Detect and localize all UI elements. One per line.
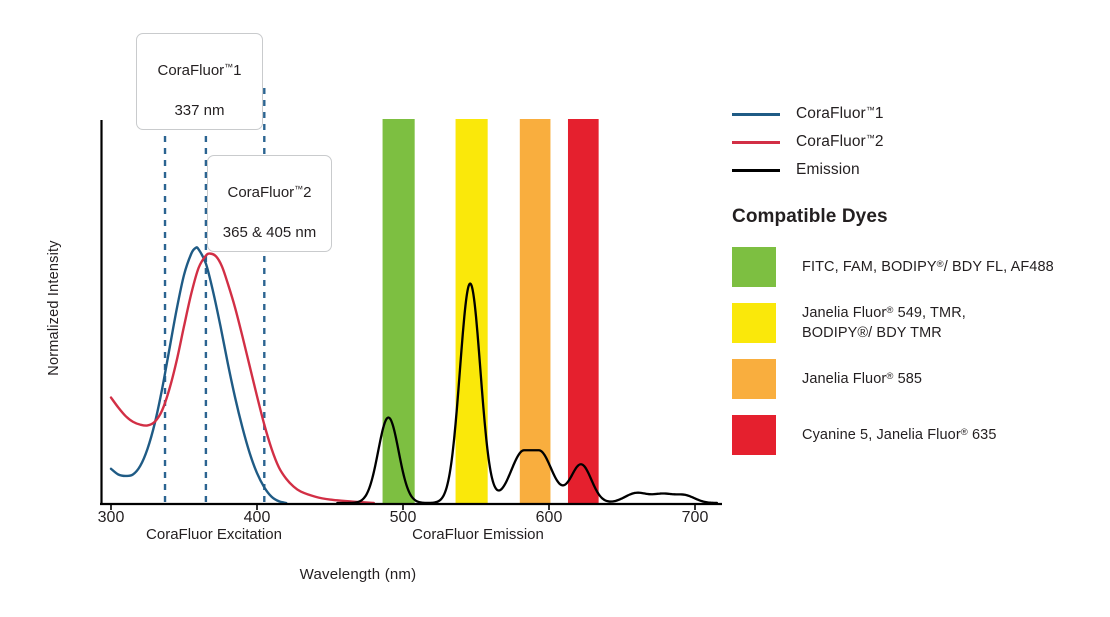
legend-label: CoraFluor™1: [796, 105, 884, 123]
callout-corafluor1: CoraFluor™1 337 nm: [136, 33, 263, 130]
curve-corafluor2: [111, 254, 374, 503]
legend-line-swatch: [732, 169, 780, 172]
plot-area: Normalized Intensity Wavelength (nm) 300…: [0, 0, 740, 612]
dye-color-swatch: [732, 359, 776, 399]
callout-corafluor2: CoraFluor™2 365 & 405 nm: [207, 155, 332, 252]
red-band: [568, 119, 599, 504]
callout-2-line1: CoraFluor™2: [227, 184, 311, 201]
dye-label: Janelia Fluor® 549, TMR, BODIPY®/ BDY TM…: [802, 303, 966, 343]
orange-band: [520, 119, 551, 504]
compatible-dyes-title: Compatible Dyes: [732, 206, 1106, 228]
dye-label: FITC, FAM, BODIPY®/ BDY FL, AF488: [802, 257, 1054, 277]
dye-row-3: Cyanine 5, Janelia Fluor® 635: [726, 410, 1106, 460]
dye-row-1: Janelia Fluor® 549, TMR, BODIPY®/ BDY TM…: [726, 298, 1106, 348]
dye-label: Cyanine 5, Janelia Fluor® 635: [802, 425, 997, 445]
legend-row-2: Emission: [726, 156, 1106, 184]
x-tick-label-700: 700: [665, 509, 725, 527]
dye-color-swatch: [732, 415, 776, 455]
excitation-section-label: CoraFluor Excitation: [84, 526, 344, 543]
legend-row-1: CoraFluor™2: [726, 128, 1106, 156]
dye-row-2: Janelia Fluor® 585: [726, 354, 1106, 404]
dye-row-0: FITC, FAM, BODIPY®/ BDY FL, AF488: [726, 242, 1106, 292]
dye-label: Janelia Fluor® 585: [802, 369, 922, 389]
legend-line-swatch: [732, 141, 780, 144]
legend-label: CoraFluor™2: [796, 133, 884, 151]
series-legend: CoraFluor™1CoraFluor™2Emission: [726, 100, 1106, 184]
spectra-figure: Normalized Intensity Wavelength (nm) 300…: [0, 0, 1110, 612]
x-tick-label-500: 500: [373, 509, 433, 527]
legend-line-swatch: [732, 113, 780, 116]
dye-bands-group: [383, 119, 599, 504]
x-tick-label-300: 300: [81, 509, 141, 527]
callout-1-line2: 337 nm: [174, 102, 224, 119]
dye-color-swatch: [732, 247, 776, 287]
legend-panel: CoraFluor™1CoraFluor™2Emission Compatibl…: [726, 100, 1106, 466]
legend-label: Emission: [796, 161, 860, 179]
emission-section-label: CoraFluor Emission: [348, 526, 608, 543]
x-tick-label-400: 400: [227, 509, 287, 527]
curve-corafluor1: [111, 247, 286, 503]
dye-color-swatch: [732, 303, 776, 343]
callout-2-line2: 365 & 405 nm: [223, 224, 316, 241]
x-tick-label-600: 600: [519, 509, 579, 527]
yellow-band: [456, 119, 488, 504]
compatible-dyes-list: FITC, FAM, BODIPY®/ BDY FL, AF488Janelia…: [726, 242, 1106, 460]
x-axis-title: Wavelength (nm): [258, 566, 458, 583]
callout-1-line1: CoraFluor™1: [157, 62, 241, 79]
y-axis-label: Normalized Intensity: [46, 218, 62, 398]
legend-row-0: CoraFluor™1: [726, 100, 1106, 128]
